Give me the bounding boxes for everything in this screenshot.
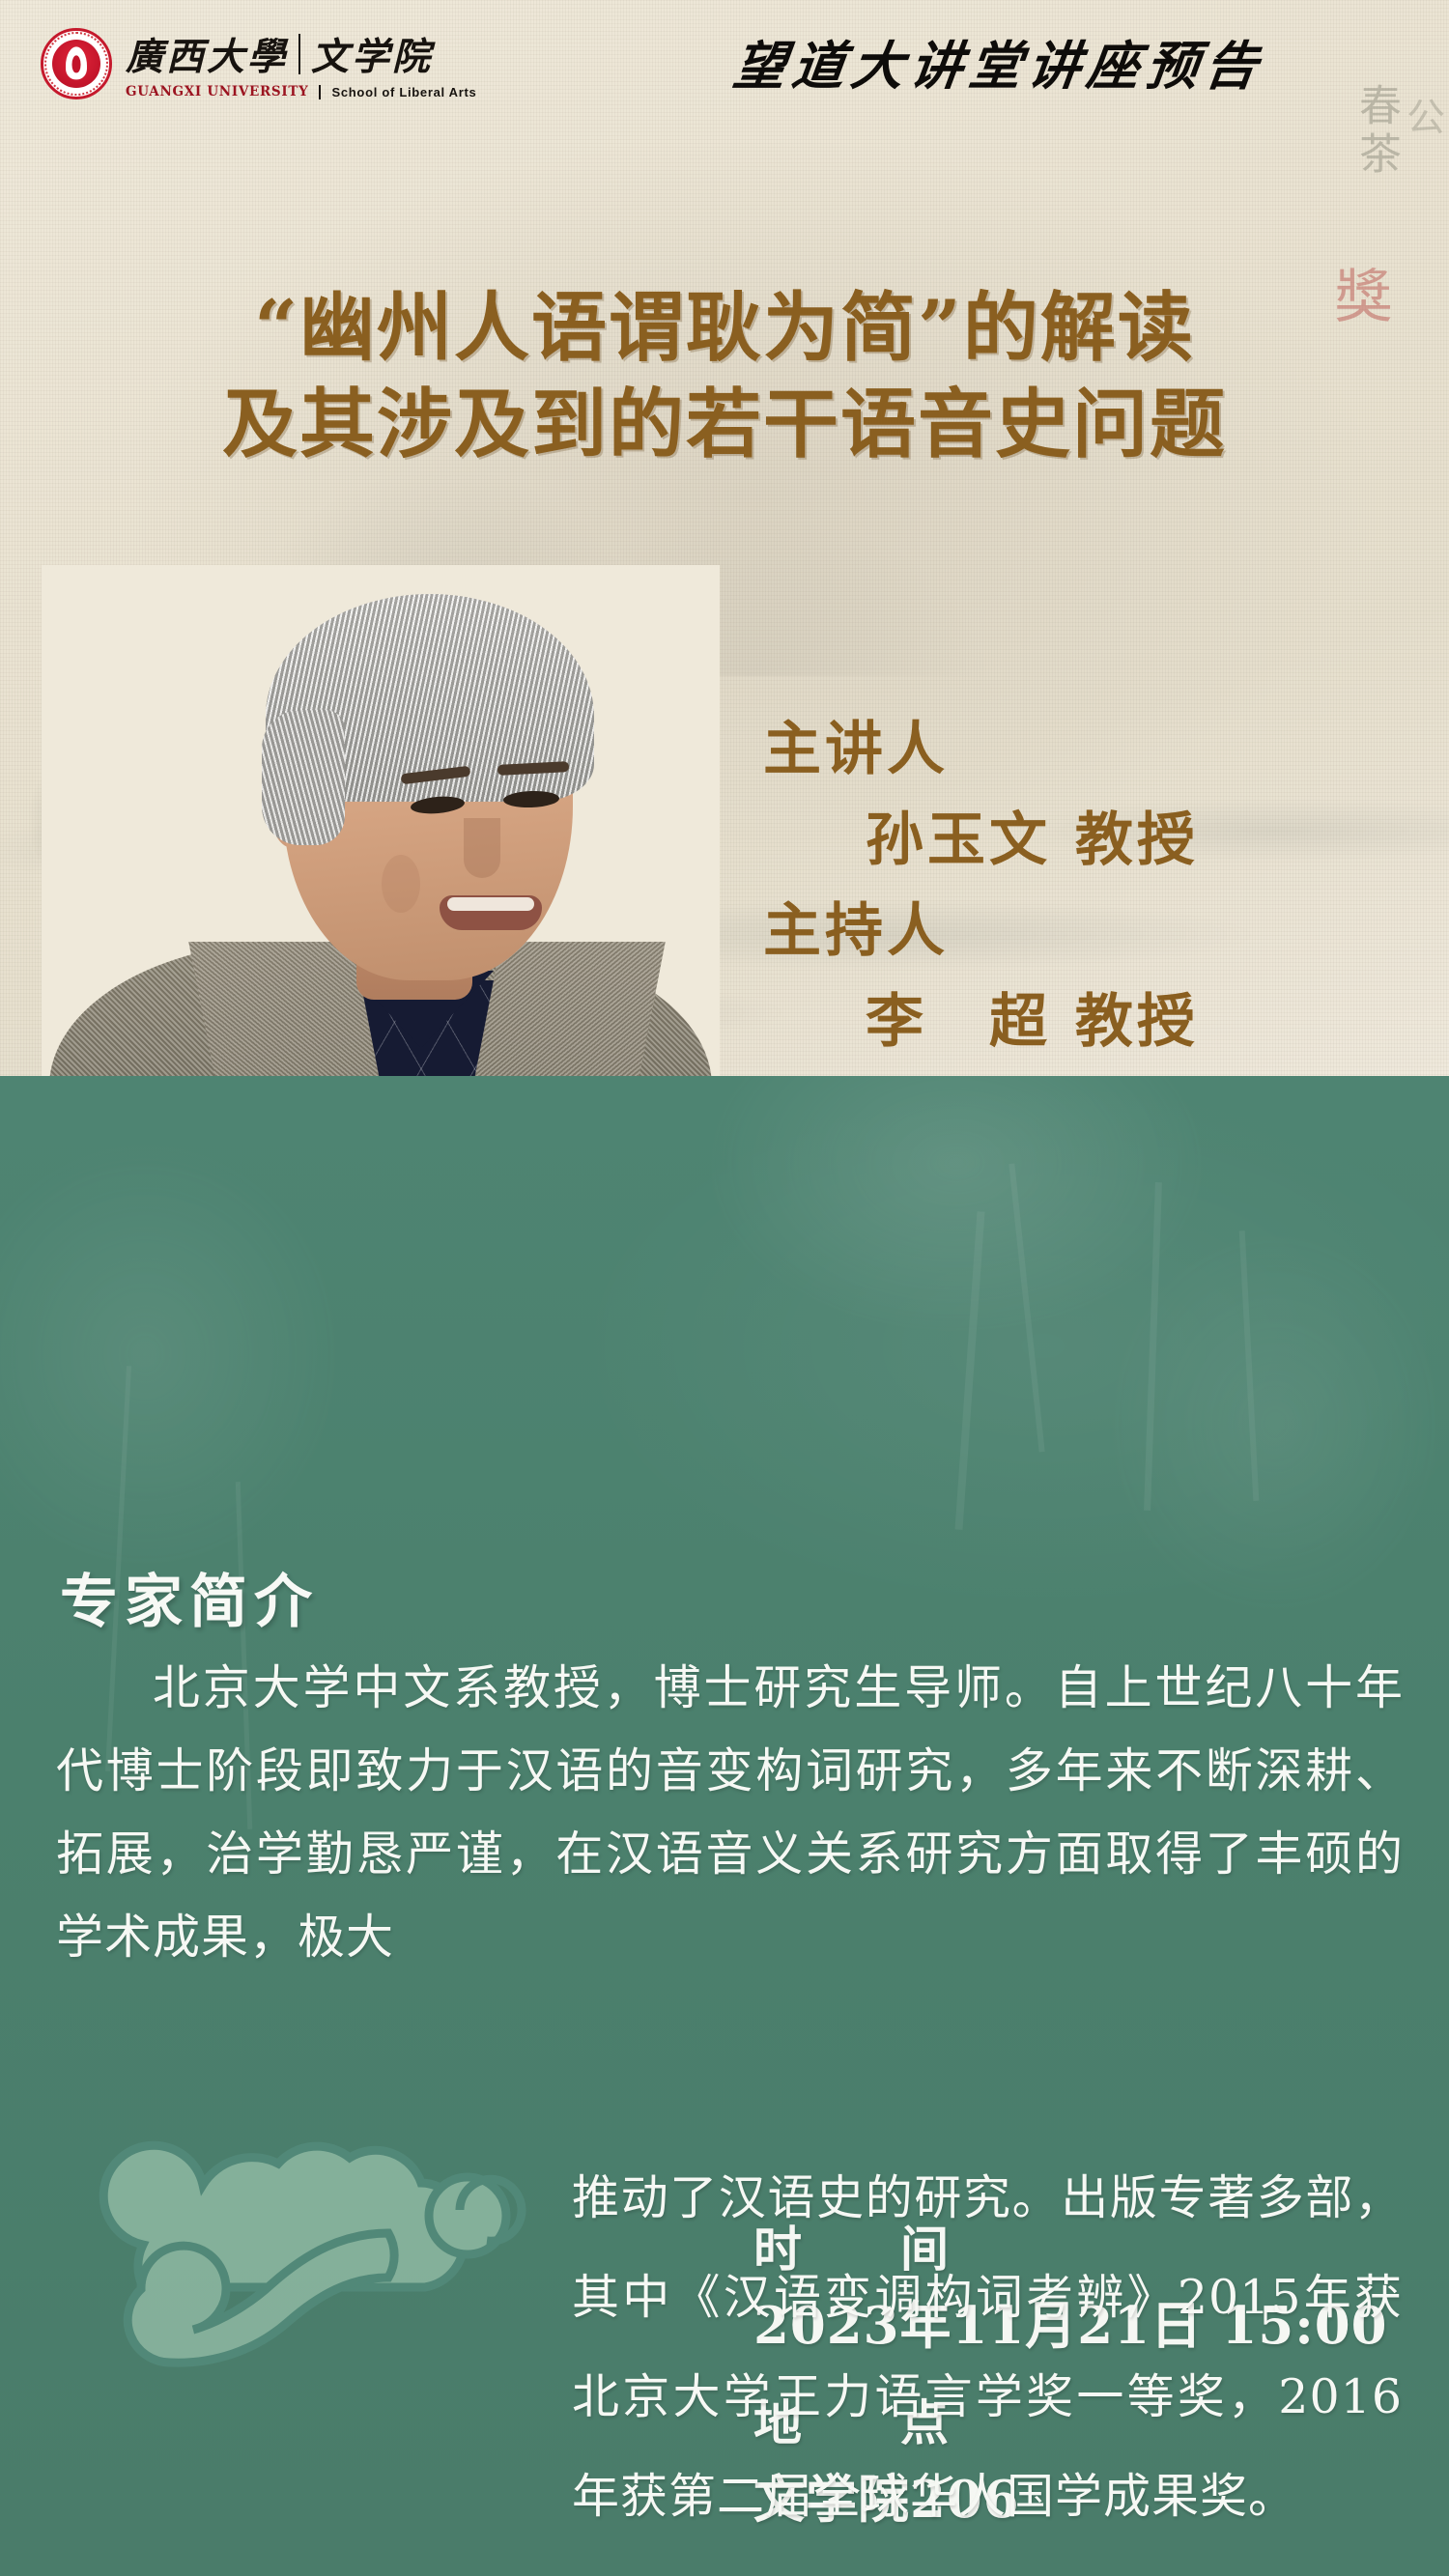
lecture-title: “幽州人语谓耿为简”的解读 及其涉及到的若干语音史问题 (0, 280, 1449, 473)
logo-english-row: GUANGXI UNIVERSITY School of Liberal Art… (126, 84, 476, 99)
logo-divider-small (319, 85, 321, 99)
bio-heading: 专家简介 (60, 1555, 319, 1639)
tree-watermark (1009, 1164, 1044, 1453)
bio-paragraph-narrow: 推动了汉语史的研究。出版专著多部，其中《汉语变调构词考辨》2015年获北京大学王… (572, 2148, 1403, 2546)
lecture-title-line-1: “幽州人语谓耿为简”的解读 (0, 280, 1449, 377)
lecture-title-line-2: 及其涉及到的若干语音史问题 (0, 377, 1449, 473)
host-name: 李 超 教授 (763, 976, 1439, 1068)
auspicious-cloud-icon (27, 2100, 568, 2448)
portrait-cheek (382, 855, 420, 913)
university-name-cn: 廣西大學 (126, 27, 288, 81)
poster-header: 廣西大學 文学院 GUANGXI UNIVERSITY School of Li… (0, 0, 1449, 116)
gxu-seal-logo-icon (41, 28, 112, 99)
logo-text-block: 廣西大學 文学院 GUANGXI UNIVERSITY School of Li… (126, 27, 476, 99)
host-role-label: 主持人 (763, 887, 1439, 976)
portrait-nose (464, 818, 500, 878)
tree-watermark (1239, 1231, 1260, 1501)
university-logo-block: 廣西大學 文学院 GUANGXI UNIVERSITY School of Li… (41, 27, 476, 99)
logo-chinese-row: 廣西大學 文学院 (126, 27, 476, 81)
university-name-en: GUANGXI UNIVERSITY (126, 84, 308, 99)
speaker-block: 主讲人 孙玉文 教授 主持人 李 超 教授 (763, 705, 1439, 1068)
speaker-role-label: 主讲人 (763, 705, 1439, 794)
lecture-poster: 春茶 獎 公 廣西大學 文学院 GUANGXI UNIVERSITY (0, 0, 1449, 2576)
tree-watermark (954, 1211, 984, 1530)
portrait-sideburn (262, 710, 345, 845)
logo-divider (298, 34, 300, 74)
bio-paragraph-wide: 北京大学中文系教授，博士研究生导师。自上世纪八十年代博士阶段即致力于汉语的音变构… (56, 1647, 1404, 1979)
school-name-cn: 文学院 (311, 27, 433, 81)
portrait-teeth (447, 897, 534, 911)
bio-paragraph-wide-text: 北京大学中文系教授，博士研究生导师。自上世纪八十年代博士阶段即致力于汉语的音变构… (56, 1660, 1404, 1965)
school-name-en: School of Liberal Arts (331, 85, 476, 99)
speaker-name: 孙玉文 教授 (763, 794, 1439, 887)
banner-series-title: 望道大讲堂讲座预告 (729, 23, 1269, 99)
tree-watermark (1144, 1182, 1162, 1511)
